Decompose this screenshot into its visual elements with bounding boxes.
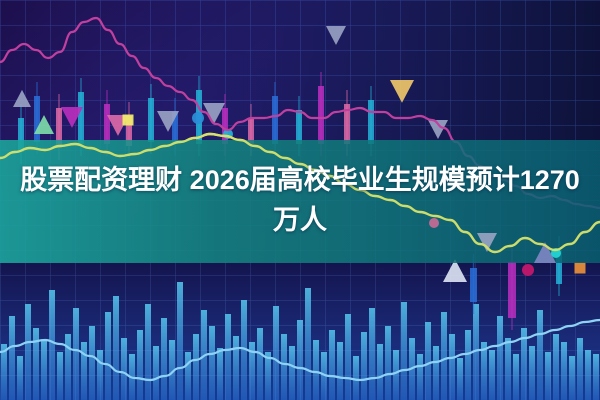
chart-marker-circle [429,218,439,228]
chart-marker-circle [522,264,534,276]
teal-overlay-band [0,140,600,263]
chart-marker-circle [192,112,204,124]
candle-body [104,104,110,144]
stock-chart-banner: 股票配资理财 2026届高校毕业生规模预计1270 万人 [0,0,600,400]
candle-body [148,98,154,142]
candle-body [272,96,278,144]
candle-body [368,100,374,144]
candle-body [296,110,302,144]
candle-body [470,268,477,302]
candle-body [34,96,40,142]
candle-body [508,262,516,318]
chart-marker-square [575,263,586,274]
candle-body [78,92,84,144]
background-chart [0,0,600,400]
candle-body [318,86,324,144]
chart-marker-square [123,115,134,126]
